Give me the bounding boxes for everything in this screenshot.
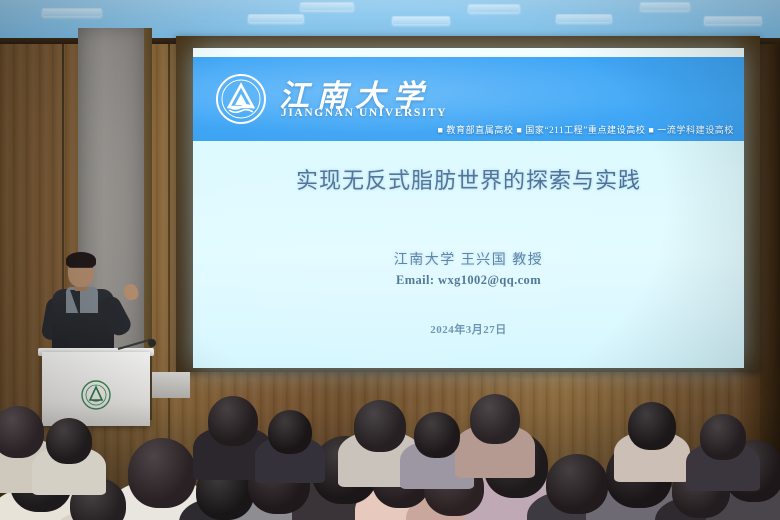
slide-title: 实现无反式脂肪世界的探索与实践 xyxy=(193,163,744,195)
audience-area xyxy=(0,392,780,520)
university-tags-line: ■ 教育部直属高校 ■ 国家“211工程”重点建设高校 ■ 一流学科建设高校 xyxy=(437,123,734,136)
audience-person-head xyxy=(0,406,44,458)
slide-header-band: 江南大学 JIANGNAN UNIVERSITY ■ 教育部直属高校 ■ 国家“… xyxy=(193,57,744,141)
audience-person-head xyxy=(46,418,92,464)
microphone xyxy=(118,338,154,362)
audience-person-head xyxy=(546,454,608,514)
audience-person-head xyxy=(128,438,196,508)
audience-person-head xyxy=(268,410,312,454)
audience-person-head xyxy=(470,394,520,444)
audience-person-head xyxy=(700,414,746,460)
audience-person-head xyxy=(208,396,258,446)
lecture-hall-scene: 江南大学 JIANGNAN UNIVERSITY ■ 教育部直属高校 ■ 国家“… xyxy=(0,0,780,520)
ceiling-light xyxy=(556,14,612,23)
slide-presenter: 江南大学 王兴国 教授 xyxy=(193,249,744,269)
ceiling-light xyxy=(42,8,102,17)
ceiling-light xyxy=(248,14,304,23)
slide-top-margin xyxy=(193,48,744,57)
audience-person-head xyxy=(354,400,406,452)
audience-person-head xyxy=(414,412,460,458)
projection-screen: 江南大学 JIANGNAN UNIVERSITY ■ 教育部直属高校 ■ 国家“… xyxy=(193,48,744,368)
speaker-gesturing-hand xyxy=(122,282,140,301)
jiangnan-university-logo-icon xyxy=(215,73,267,125)
ceiling-light xyxy=(392,16,450,25)
ceiling-light xyxy=(704,16,762,25)
slide-date: 2024年3月27日 xyxy=(193,321,744,337)
ceiling-light xyxy=(640,2,690,11)
ceiling-light xyxy=(468,4,520,13)
speaker-glasses xyxy=(69,267,93,273)
slide-body: 实现无反式脂肪世界的探索与实践 江南大学 王兴国 教授 Email: wxg10… xyxy=(193,141,744,368)
university-name-en: JIANGNAN UNIVERSITY xyxy=(281,107,447,119)
ceiling-light xyxy=(300,2,354,11)
microphone-head xyxy=(148,339,156,347)
audience-person-head xyxy=(628,402,676,450)
speaker-hair xyxy=(66,252,96,268)
microphone-stem xyxy=(118,339,151,350)
speaker-lapel xyxy=(70,290,80,318)
slide-email: Email: wxg1002@qq.com xyxy=(193,273,744,288)
